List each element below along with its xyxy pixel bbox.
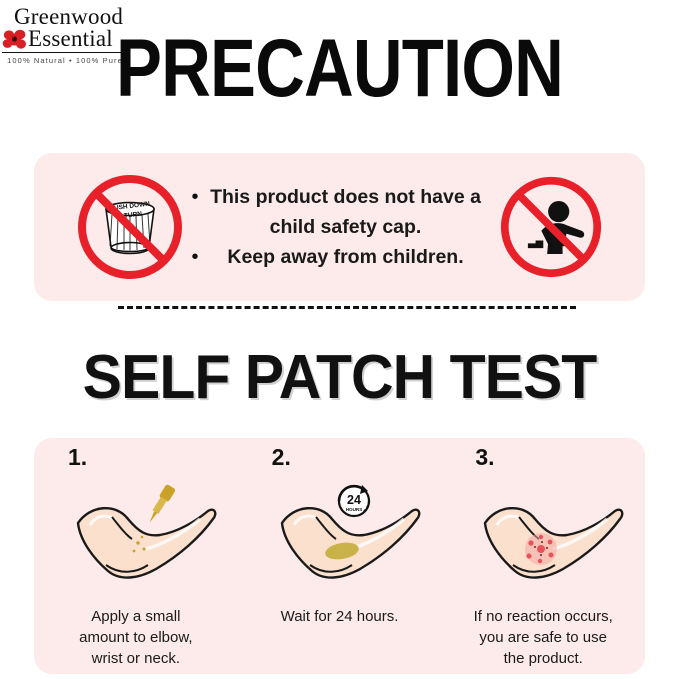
step-1-caption-line2: amount to elbow, bbox=[48, 627, 224, 648]
precaution-text-block: • This product does not have a child saf… bbox=[184, 182, 499, 272]
step-2-number: 2. bbox=[272, 444, 291, 471]
step-3-caption: If no reaction occurs, you are safe to u… bbox=[441, 606, 645, 669]
step-3-caption-line2: you are safe to use bbox=[455, 627, 631, 648]
step-1-number: 1. bbox=[68, 444, 87, 471]
timer-badge-unit: HOURS bbox=[345, 507, 362, 512]
step-2-caption: Wait for 24 hours. bbox=[238, 606, 442, 627]
timer-badge-value: 24 bbox=[347, 493, 361, 507]
no-child-safety-cap-icon: PUSH DOWN & TURN bbox=[76, 173, 184, 281]
flower-icon bbox=[2, 27, 28, 51]
elbow-with-24-hour-timer-icon: 24 HOURS bbox=[238, 472, 442, 602]
step-1: 1. Apply a small amount bbox=[34, 438, 238, 674]
step-3-caption-line3: the product. bbox=[455, 648, 631, 669]
precaution-bullet-1-line1: This product does not have a bbox=[204, 182, 493, 212]
step-1-caption-line1: Apply a small bbox=[48, 606, 224, 627]
bullet-marker: • bbox=[186, 242, 204, 272]
step-1-caption-line3: wrist or neck. bbox=[48, 648, 224, 669]
section-divider bbox=[118, 306, 576, 309]
step-3-number: 3. bbox=[475, 444, 494, 471]
step-2-caption-line1: Wait for 24 hours. bbox=[252, 606, 428, 627]
elbow-with-dropper-icon bbox=[34, 472, 238, 602]
precaution-bullet-1-line2: child safety cap. bbox=[204, 212, 493, 242]
step-3-caption-line1: If no reaction occurs, bbox=[455, 606, 631, 627]
keep-away-from-children-icon bbox=[499, 175, 603, 279]
step-2: 2. 24 HOURS Wait for 24 hours bbox=[238, 438, 442, 674]
self-patch-test-steps-panel: 1. Apply a small amount bbox=[34, 438, 645, 674]
precaution-bullet-2-line1: Keep away from children. bbox=[204, 242, 493, 272]
precaution-panel: PUSH DOWN & TURN • This product does not… bbox=[34, 153, 645, 301]
step-1-caption: Apply a small amount to elbow, wrist or … bbox=[34, 606, 238, 669]
precaution-bullet-1: • This product does not have a bbox=[186, 182, 493, 212]
step-3: 3. If no bbox=[441, 438, 645, 674]
page-title-self-patch-test: SELF PATCH TEST bbox=[17, 345, 662, 411]
precaution-bullet-2: • Keep away from children. bbox=[186, 242, 493, 272]
elbow-with-rash-icon bbox=[441, 472, 645, 602]
page-title-precaution: PRECAUTION bbox=[54, 26, 624, 112]
bullet-marker: • bbox=[186, 182, 204, 212]
precaution-bullet-1-cont: child safety cap. bbox=[186, 212, 493, 242]
